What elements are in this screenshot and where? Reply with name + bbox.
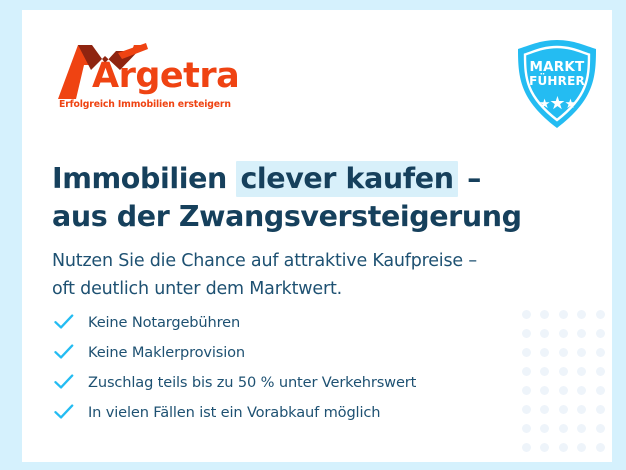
- dot: [540, 424, 549, 433]
- dot: [540, 405, 549, 414]
- dot: [577, 424, 586, 433]
- list-item: Zuschlag teils bis zu 50 % unter Verkehr…: [54, 367, 524, 397]
- star-icon-left: ★: [539, 96, 550, 111]
- headline-line-1-suffix: –: [458, 162, 481, 195]
- dot: [596, 443, 605, 452]
- dot: [559, 367, 568, 376]
- check-icon: [54, 374, 88, 390]
- headline-line-2: aus der Zwangsversteigerung: [52, 198, 532, 236]
- dot: [559, 443, 568, 452]
- dot-grid-decoration: [522, 310, 612, 462]
- dot: [577, 329, 586, 338]
- check-icon: [54, 314, 88, 330]
- dot: [559, 348, 568, 357]
- dot: [577, 310, 586, 319]
- check-icon: [54, 404, 88, 420]
- dot: [559, 329, 568, 338]
- page-title: Immobilien clever kaufen – aus der Zwang…: [52, 160, 532, 236]
- dot: [559, 424, 568, 433]
- dot: [559, 386, 568, 395]
- dot: [540, 348, 549, 357]
- list-item: In vielen Fällen ist ein Vorabkauf mögli…: [54, 397, 524, 427]
- benefit-label: Keine Maklerprovision: [88, 344, 245, 361]
- dot: [577, 443, 586, 452]
- subheading-line-1: Nutzen Sie die Chance auf attraktive Kau…: [52, 247, 532, 276]
- dot: [577, 348, 586, 357]
- dot: [596, 310, 605, 319]
- dot: [596, 367, 605, 376]
- benefit-label: Zuschlag teils bis zu 50 % unter Verkehr…: [88, 374, 416, 391]
- check-icon: [54, 344, 88, 360]
- list-item: Keine Notargebühren: [54, 307, 524, 337]
- dot: [596, 329, 605, 338]
- benefit-label: Keine Notargebühren: [88, 314, 240, 331]
- logo-mark-row: Argetra: [58, 43, 258, 99]
- dot: [559, 405, 568, 414]
- dot: [540, 443, 549, 452]
- dot: [540, 367, 549, 376]
- logo-tagline: Erfolgreich Immobilien ersteigern: [59, 99, 231, 110]
- dot: [540, 329, 549, 338]
- dot: [540, 386, 549, 395]
- argetra-logo[interactable]: Argetra Erfolgreich Immobilien ersteiger…: [58, 43, 258, 99]
- benefit-label: In vielen Fällen ist ein Vorabkauf mögli…: [88, 404, 380, 421]
- headline-line-1-prefix: Immobilien: [52, 162, 236, 195]
- dot: [559, 310, 568, 319]
- dot: [540, 310, 549, 319]
- banner-card: Argetra Erfolgreich Immobilien ersteiger…: [22, 10, 612, 462]
- dot: [596, 424, 605, 433]
- dot: [577, 405, 586, 414]
- star-icon-center: ★: [549, 93, 564, 113]
- list-item: Keine Maklerprovision: [54, 337, 524, 367]
- headline-line-1: Immobilien clever kaufen –: [52, 160, 532, 198]
- dot: [577, 386, 586, 395]
- dot: [522, 443, 531, 452]
- logo-wordmark: Argetra: [92, 59, 239, 94]
- badge-stars: ★★★: [512, 94, 602, 112]
- banner-canvas: Argetra Erfolgreich Immobilien ersteiger…: [0, 0, 626, 470]
- headline-highlight: clever kaufen: [236, 161, 457, 197]
- dot: [596, 348, 605, 357]
- star-icon-right: ★: [565, 96, 576, 111]
- market-leader-badge: MARKT FÜHRER ★★★: [512, 38, 602, 130]
- subheading: Nutzen Sie die Chance auf attraktive Kau…: [52, 247, 532, 304]
- shield-icon: [512, 38, 602, 130]
- dot: [577, 367, 586, 376]
- dot: [596, 386, 605, 395]
- dot: [596, 405, 605, 414]
- subheading-line-2: oft deutlich unter dem Marktwert.: [52, 275, 532, 304]
- benefits-list: Keine Notargebühren Keine Maklerprovisio…: [54, 307, 524, 427]
